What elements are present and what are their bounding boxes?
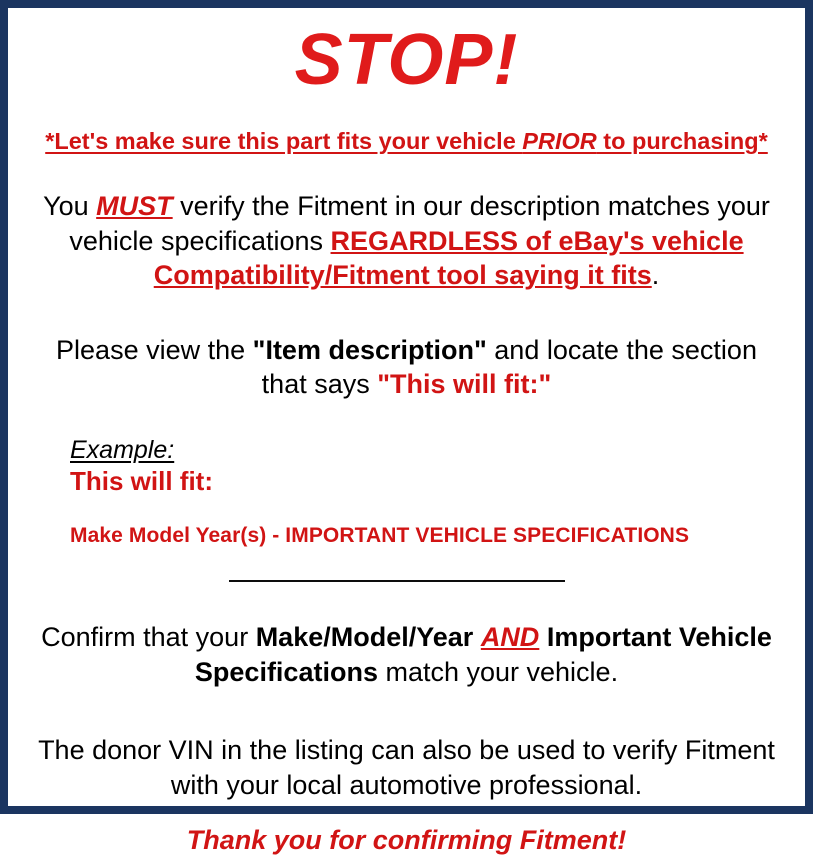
example-fit-header: This will fit: bbox=[70, 466, 791, 497]
must-verify-paragraph: You MUST verify the Fitment in our descr… bbox=[22, 189, 791, 293]
must-seg-3: . bbox=[652, 260, 660, 290]
view-seg-1: Please view the bbox=[56, 335, 253, 365]
horizontal-divider bbox=[229, 580, 565, 582]
confirm-seg-2 bbox=[473, 622, 481, 652]
divider-wrap bbox=[22, 574, 791, 588]
tagline-after: to purchasing* bbox=[597, 128, 768, 154]
must-emphasis: MUST bbox=[96, 191, 173, 221]
example-block: Example: This will fit: Make Model Year(… bbox=[22, 436, 791, 548]
this-will-fit-emphasis: "This will fit:" bbox=[377, 369, 551, 399]
must-seg-1: You bbox=[43, 191, 96, 221]
and-emphasis: AND bbox=[481, 622, 540, 652]
tagline-before: *Let's make sure this part fits your veh… bbox=[45, 128, 522, 154]
donor-vin-paragraph: The donor VIN in the listing can also be… bbox=[22, 733, 791, 802]
confirm-seg-4: match your vehicle. bbox=[378, 657, 618, 687]
confirm-seg-3 bbox=[539, 622, 547, 652]
view-description-paragraph: Please view the "Item description" and l… bbox=[22, 333, 791, 402]
fitment-notice-card: STOP! *Let's make sure this part fits yo… bbox=[0, 0, 813, 814]
stop-heading: STOP! bbox=[22, 18, 791, 103]
thank-you-message: Thank you for confirming Fitment! bbox=[22, 824, 791, 856]
confirm-seg-1: Confirm that your bbox=[41, 622, 256, 652]
example-label: Example: bbox=[70, 436, 174, 465]
example-label-row: Example: bbox=[70, 436, 791, 465]
confirm-paragraph: Confirm that your Make/Model/Year AND Im… bbox=[22, 620, 791, 689]
item-description-emphasis: "Item description" bbox=[253, 335, 487, 365]
example-spec-line: Make Model Year(s) - IMPORTANT VEHICLE S… bbox=[70, 523, 791, 548]
tagline-emphasis-prior: PRIOR bbox=[522, 128, 596, 154]
tagline-text: *Let's make sure this part fits your veh… bbox=[22, 127, 791, 155]
make-model-year-emphasis: Make/Model/Year bbox=[256, 622, 474, 652]
